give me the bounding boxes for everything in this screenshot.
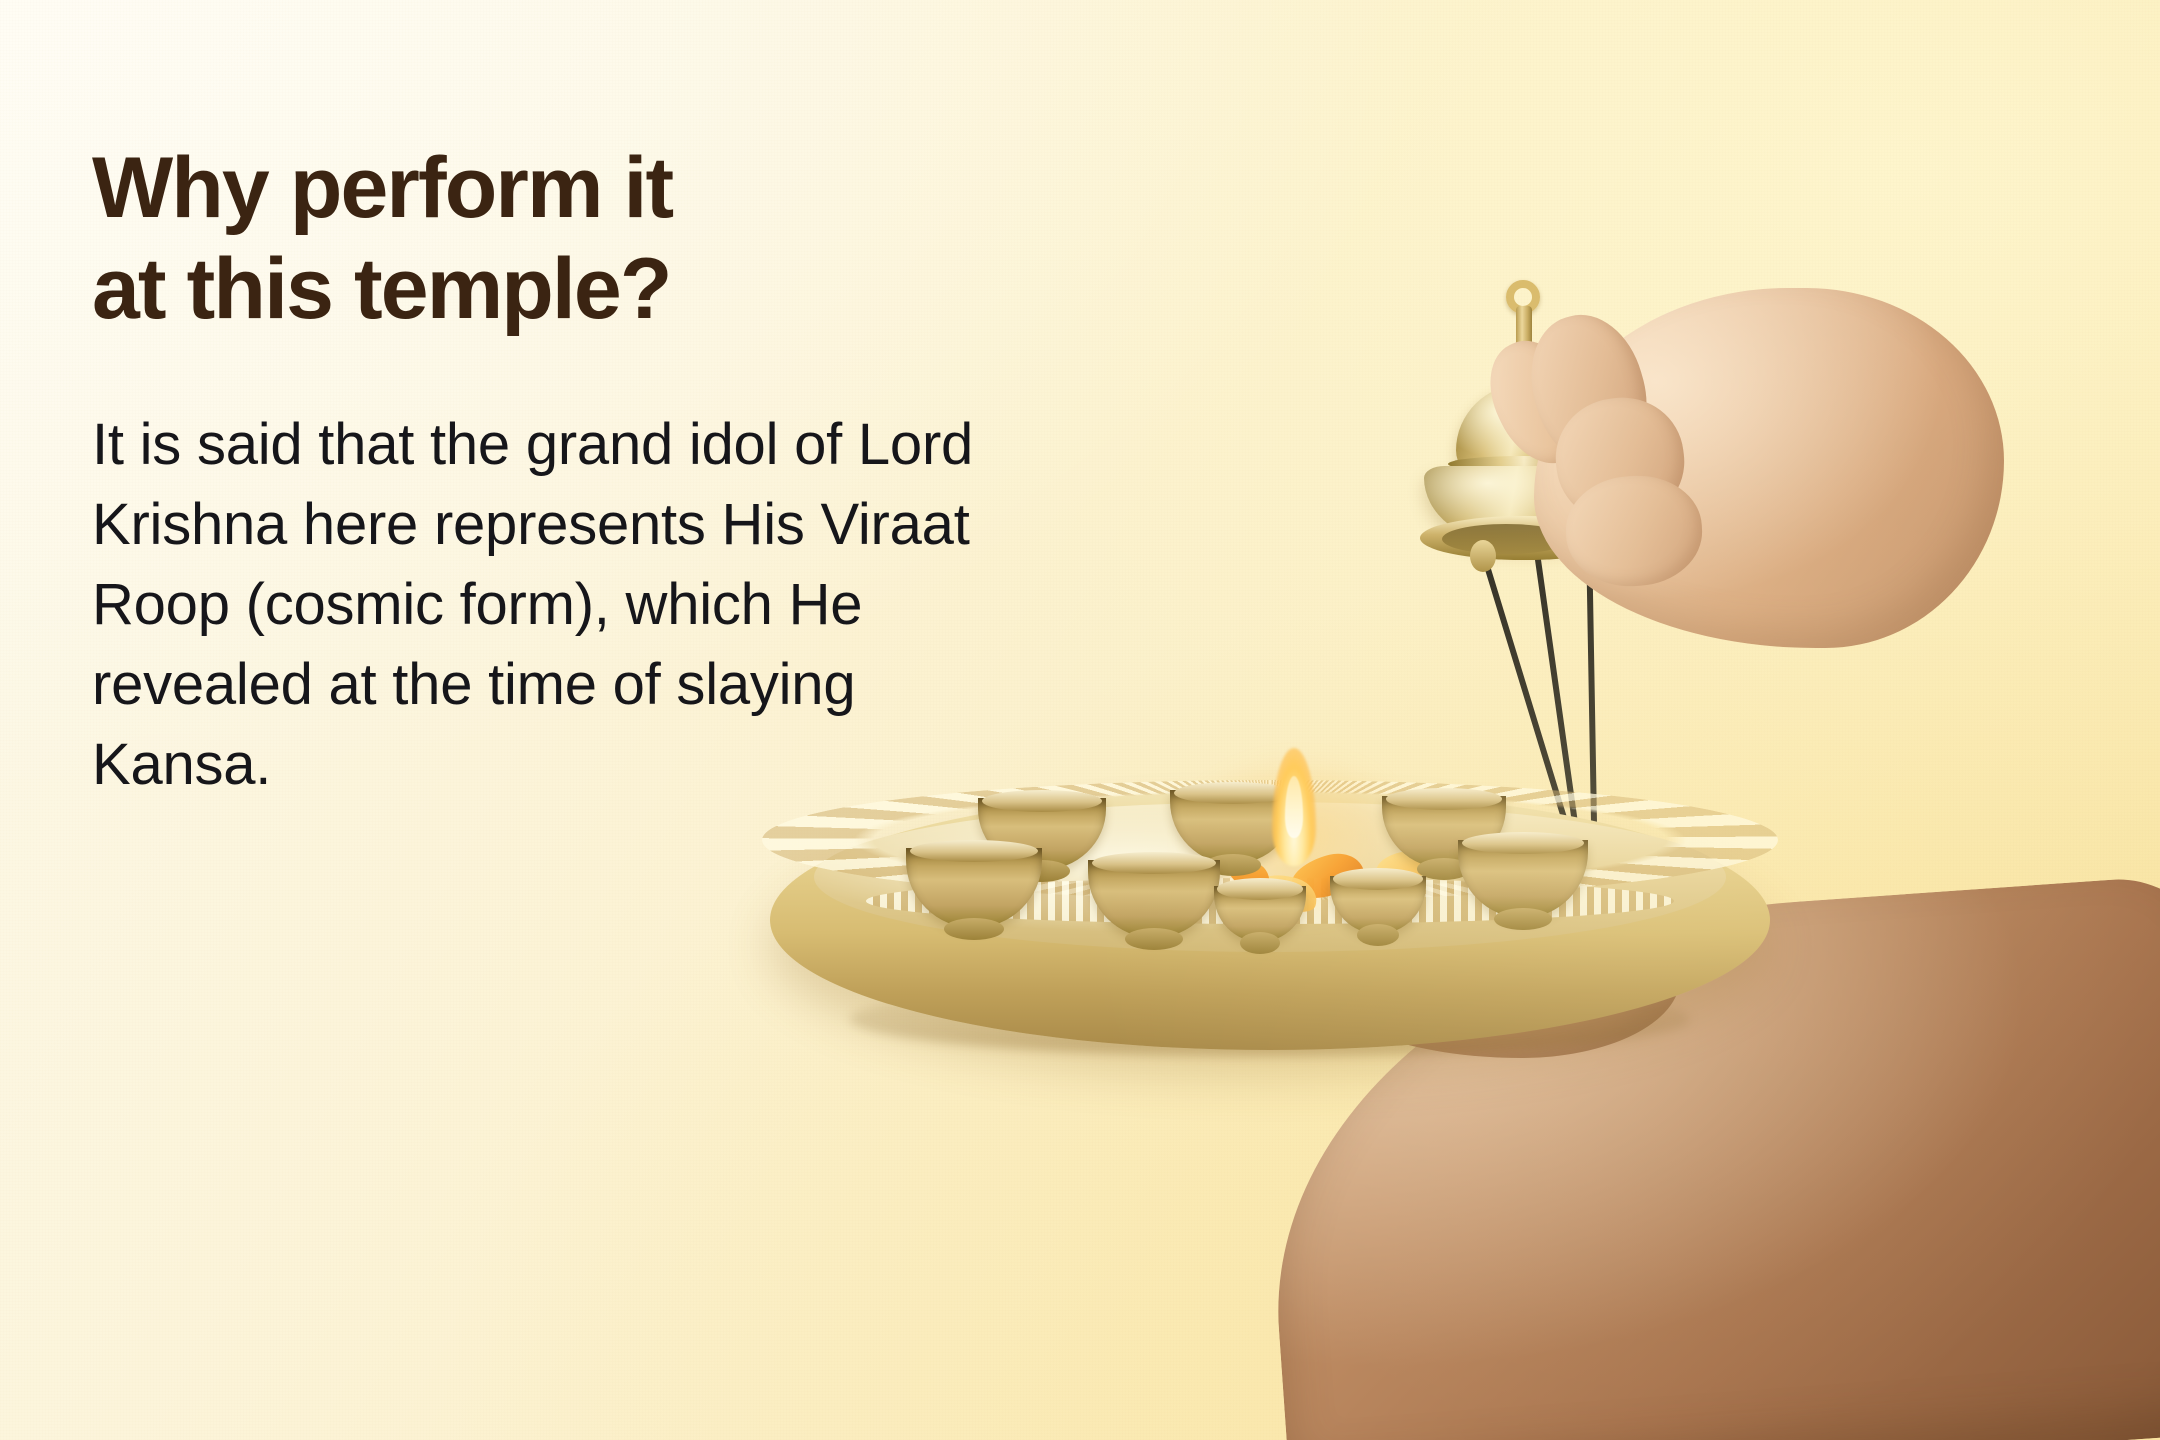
aarti-info-slide: Why perform it at this temple? It is sai… bbox=[0, 0, 2160, 1440]
aarti-photo bbox=[1020, 0, 2160, 1440]
text-column: Why perform it at this temple? It is sai… bbox=[92, 138, 1032, 805]
body-paragraph: It is said that the grand idol of Lord K… bbox=[92, 405, 992, 805]
brass-pooja-thali bbox=[770, 790, 1770, 1050]
page-title: Why perform it at this temple? bbox=[92, 138, 1032, 339]
bell-and-hand-group bbox=[1320, 280, 1880, 740]
bell-clapper-icon bbox=[1470, 540, 1496, 572]
